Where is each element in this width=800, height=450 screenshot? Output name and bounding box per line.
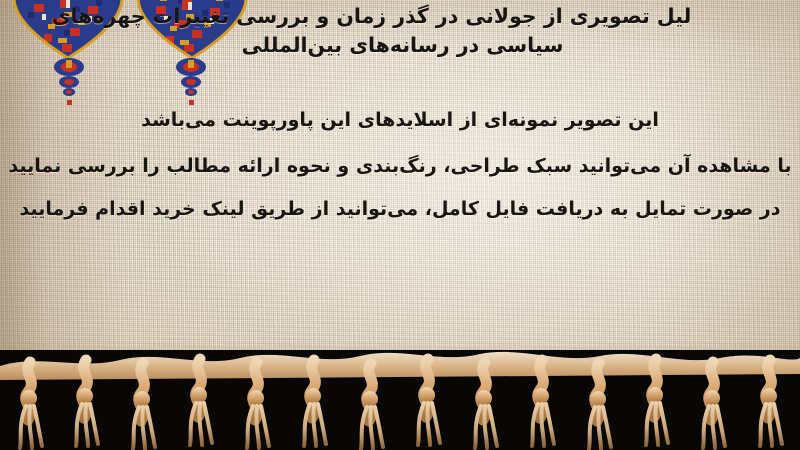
slide-title-line-1: لیل تصویری از جولانی در گذر زمان و بررسی… [5,2,738,31]
slide-title-line-2: سیاسی در رسانه‌های بین‌المللی [5,31,800,60]
slide-body-line-2: با مشاهده آن می‌توانید سبک طراحی، رنگ‌بن… [0,154,800,179]
slide-canvas: لیل تصویری از جولانی در گذر زمان و بررسی… [0,0,800,450]
slide-body-line-3: در صورت تمایل به دریافت فایل کامل، می‌تو… [0,197,800,222]
slide-body-line-1: این تصویر نمونه‌ای از اسلایدهای این پاور… [0,108,800,133]
slide-title: لیل تصویری از جولانی در گذر زمان و بررسی… [5,2,800,60]
carpet-tassel-fringe [0,340,800,450]
slide-text-layer: لیل تصویری از جولانی در گذر زمان و بررسی… [0,0,800,385]
slide-body: این تصویر نمونه‌ای از اسلایدهای این پاور… [0,108,800,222]
